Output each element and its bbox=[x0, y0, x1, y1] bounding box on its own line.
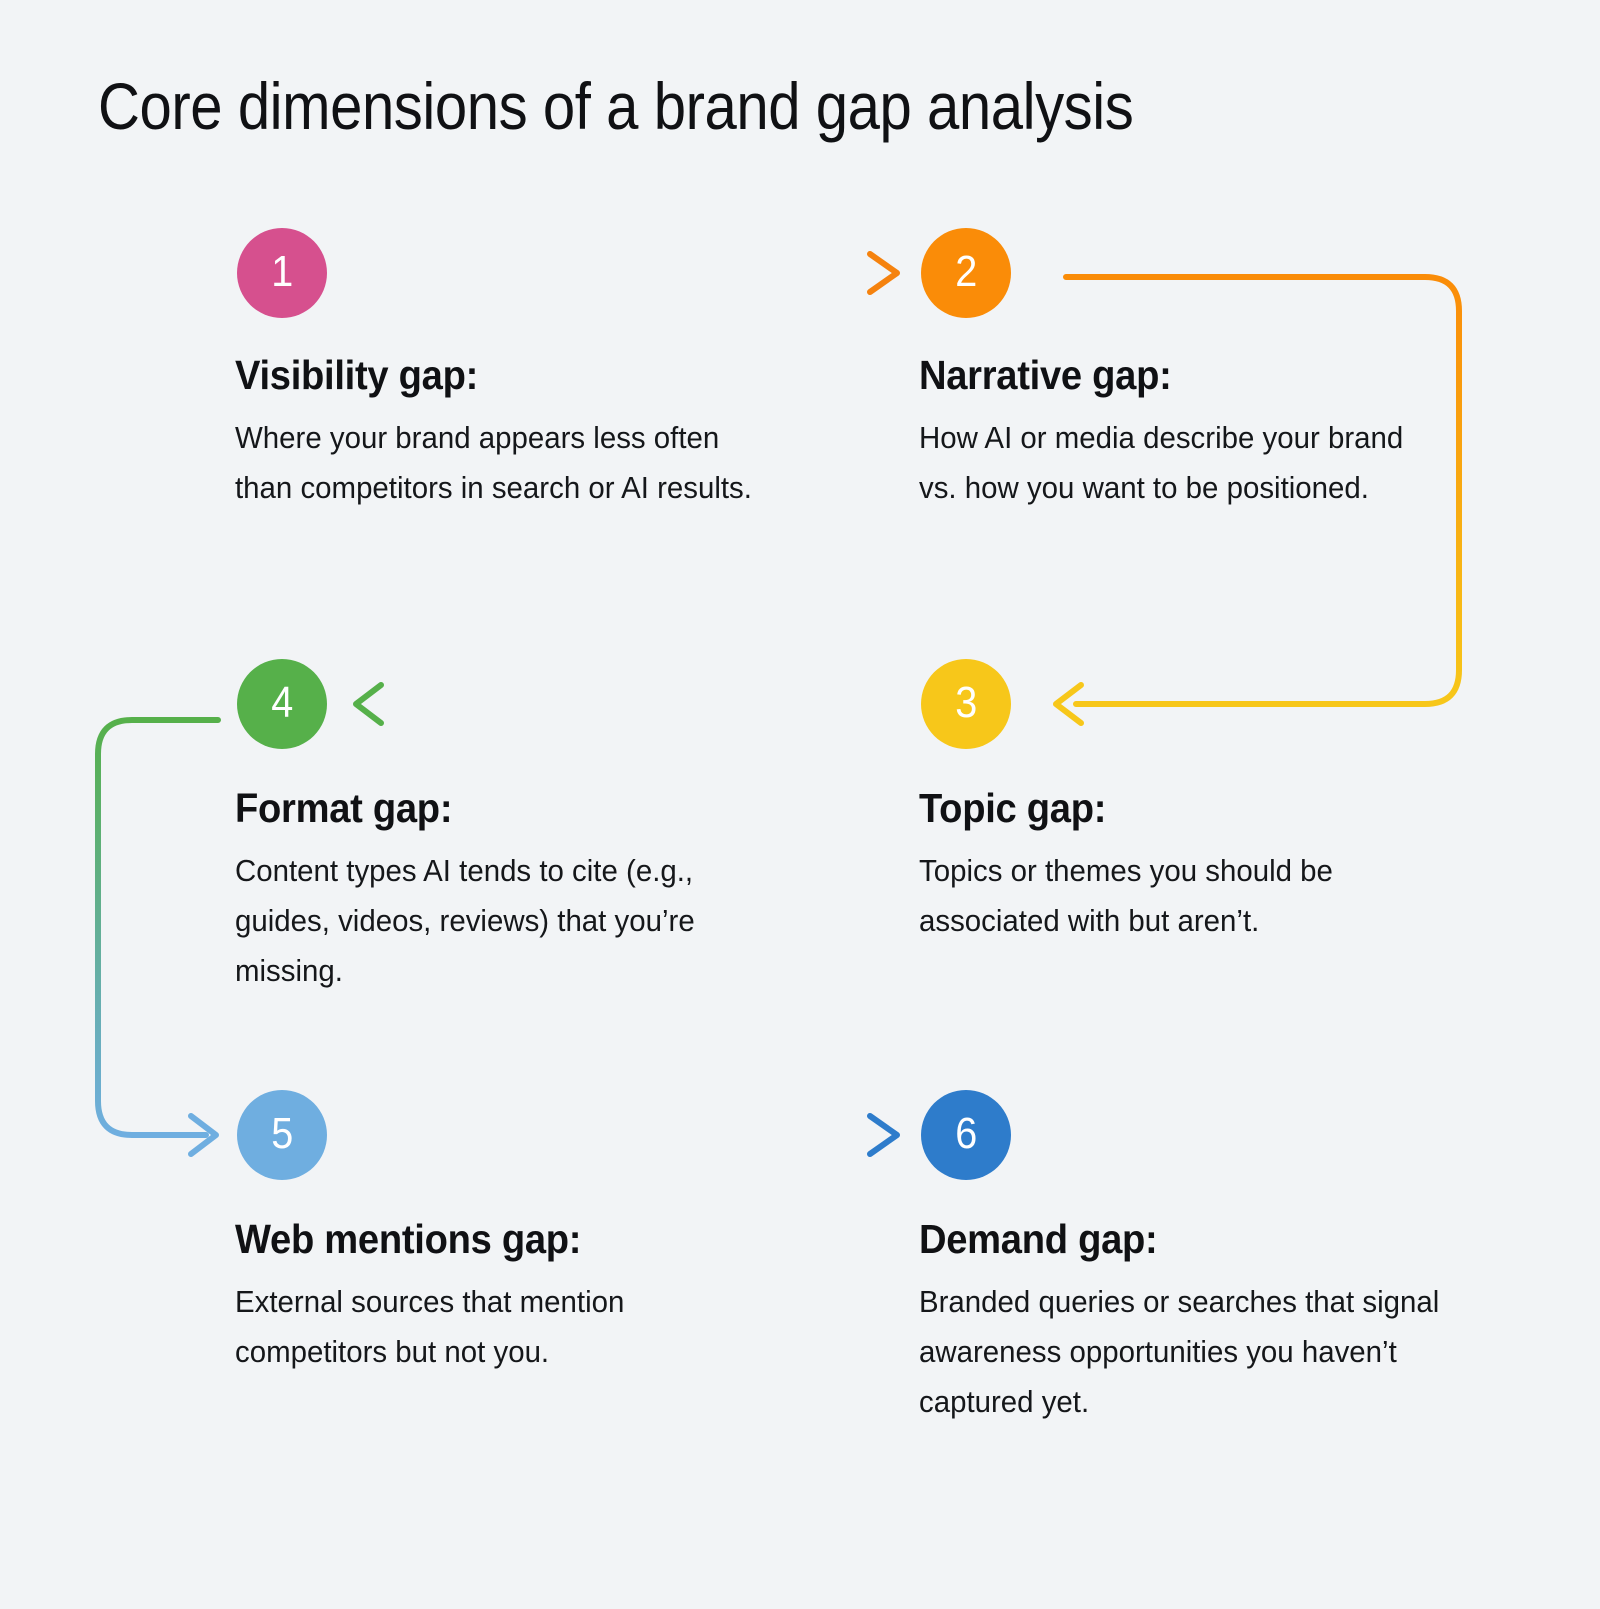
node-circle-6[interactable]: 6 bbox=[921, 1090, 1011, 1180]
item-body-3: Topics or themes you should be associate… bbox=[919, 846, 1440, 946]
item-body-4: Content types AI tends to cite (e.g., gu… bbox=[235, 846, 756, 996]
node-number-2: 2 bbox=[955, 250, 977, 294]
item-block-demand-gap: Demand gap: Branded queries or searches … bbox=[919, 1216, 1459, 1427]
item-body-2: How AI or media describe your brand vs. … bbox=[919, 413, 1440, 513]
item-title-1: Visibility gap: bbox=[235, 352, 737, 399]
item-block-narrative-gap: Narrative gap: How AI or media describe … bbox=[919, 352, 1459, 513]
item-body-6: Branded queries or searches that signal … bbox=[919, 1277, 1440, 1427]
connector-3-to-4 bbox=[356, 685, 900, 723]
connector-5-to-6 bbox=[356, 1116, 897, 1154]
node-circle-2[interactable]: 2 bbox=[921, 228, 1011, 318]
node-circle-3[interactable]: 3 bbox=[921, 659, 1011, 749]
item-body-1: Where your brand appears less often than… bbox=[235, 413, 756, 513]
node-circle-4[interactable]: 4 bbox=[237, 659, 327, 749]
item-title-6: Demand gap: bbox=[919, 1216, 1421, 1263]
node-number-6: 6 bbox=[955, 1112, 977, 1156]
item-block-format-gap: Format gap: Content types AI tends to ci… bbox=[235, 785, 775, 996]
node-circle-1[interactable]: 1 bbox=[237, 228, 327, 318]
item-title-5: Web mentions gap: bbox=[235, 1216, 737, 1263]
item-title-4: Format gap: bbox=[235, 785, 737, 832]
item-title-3: Topic gap: bbox=[919, 785, 1421, 832]
diagram-canvas: Core dimensions of a brand gap analysis bbox=[0, 0, 1600, 1609]
node-number-5: 5 bbox=[271, 1112, 293, 1156]
item-body-5: External sources that mention competitor… bbox=[235, 1277, 756, 1377]
item-block-topic-gap: Topic gap: Topics or themes you should b… bbox=[919, 785, 1459, 946]
item-title-2: Narrative gap: bbox=[919, 352, 1421, 399]
item-block-web-mentions-gap: Web mentions gap: External sources that … bbox=[235, 1216, 775, 1377]
node-number-1: 1 bbox=[271, 250, 293, 294]
connector-4-to-5 bbox=[98, 720, 218, 1154]
item-block-visibility-gap: Visibility gap: Where your brand appears… bbox=[235, 352, 775, 513]
connector-1-to-2 bbox=[360, 254, 897, 292]
node-number-4: 4 bbox=[271, 681, 293, 725]
page-title: Core dimensions of a brand gap analysis bbox=[98, 72, 1133, 141]
node-circle-5[interactable]: 5 bbox=[237, 1090, 327, 1180]
node-number-3: 3 bbox=[955, 681, 977, 725]
